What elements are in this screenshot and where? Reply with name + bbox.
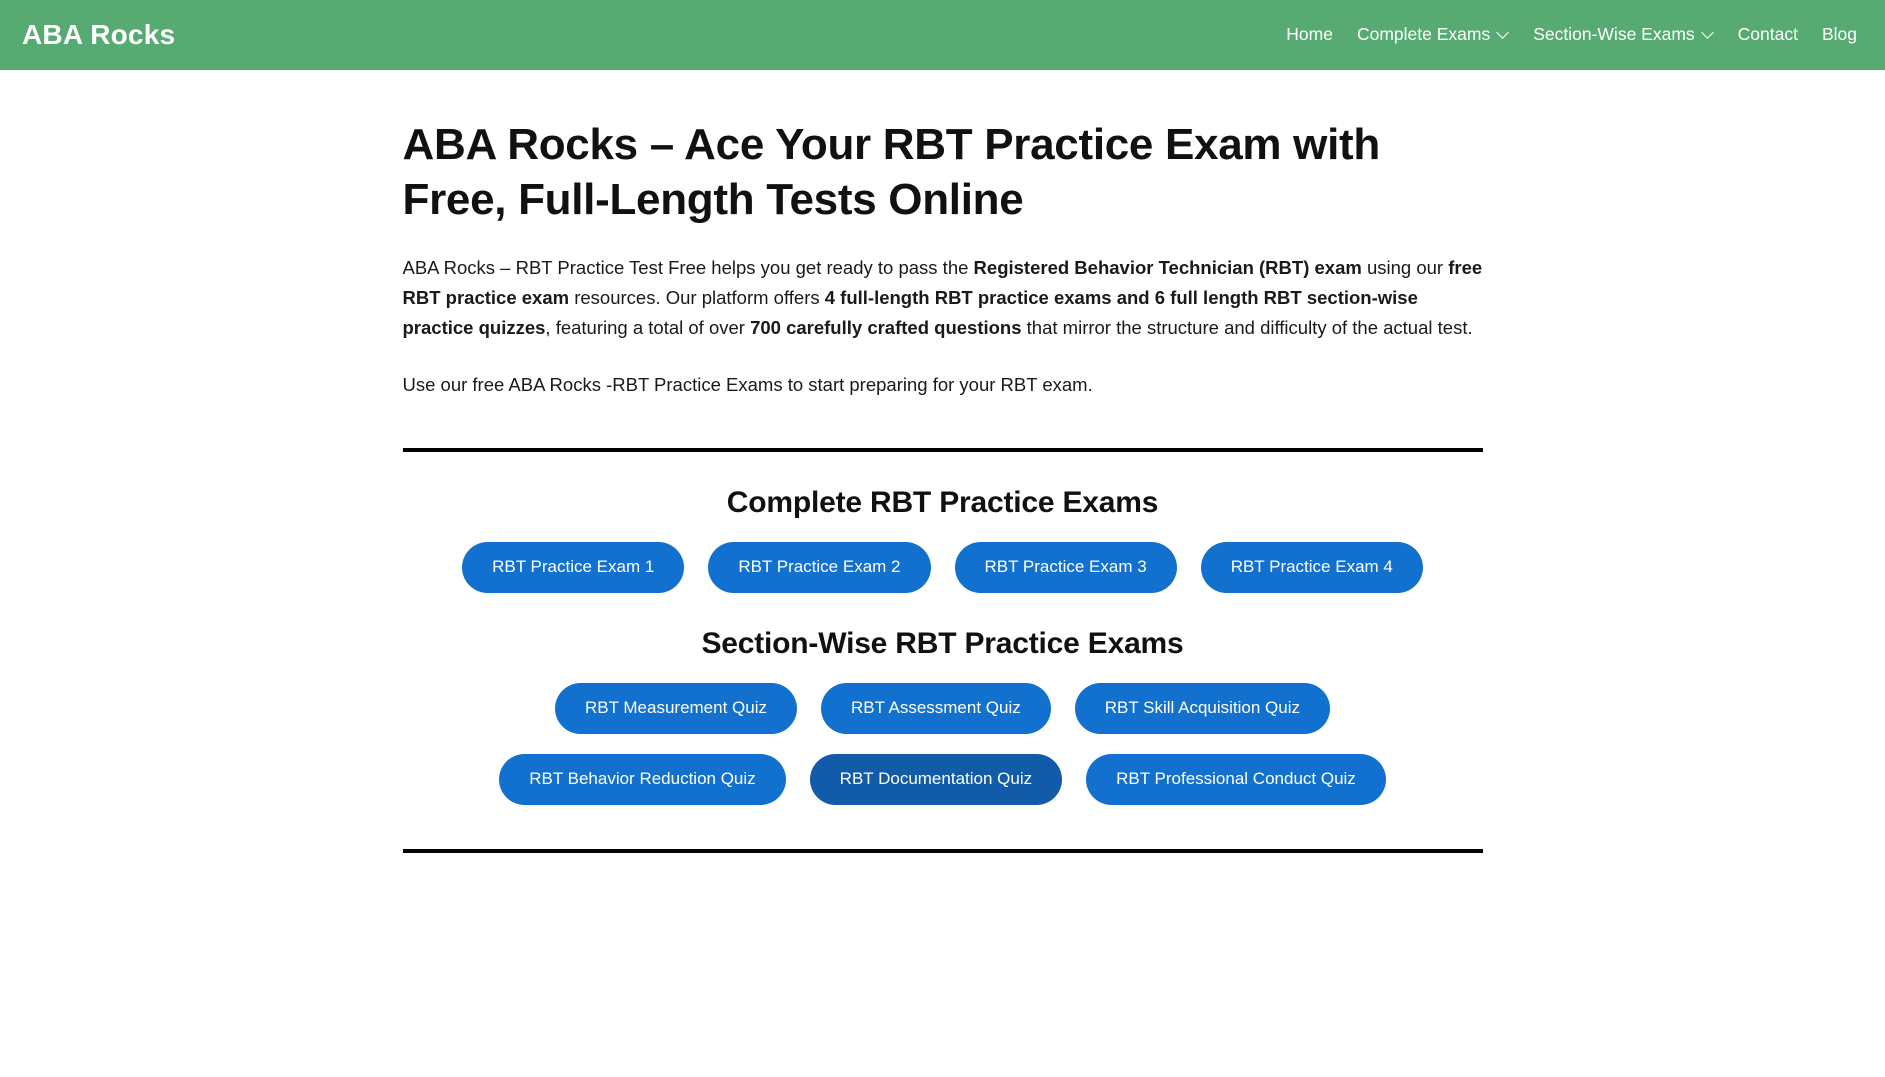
exam-button-3[interactable]: RBT Practice Exam 3 (955, 542, 1177, 593)
exam-button-4[interactable]: RBT Practice Exam 4 (1201, 542, 1423, 593)
chevron-down-icon (1498, 28, 1509, 39)
quiz-button-documentation[interactable]: RBT Documentation Quiz (810, 754, 1062, 805)
page-body: ABA Rocks – Ace Your RBT Practice Exam w… (0, 70, 1885, 1077)
nav-item-blog[interactable]: Blog (1810, 26, 1857, 44)
nav-label: Home (1286, 26, 1333, 44)
chevron-down-icon (1703, 28, 1714, 39)
section-wise-button-row-1: RBT Measurement Quiz RBT Assessment Quiz… (403, 683, 1483, 734)
nav-label: Blog (1822, 26, 1857, 44)
intro-text-part: that mirror the structure and difficulty… (1022, 317, 1473, 338)
complete-exams-button-row: RBT Practice Exam 1 RBT Practice Exam 2 … (403, 542, 1483, 593)
intro-paragraph-2: Use our free ABA Rocks -RBT Practice Exa… (403, 370, 1483, 400)
nav-item-section-wise-exams[interactable]: Section-Wise Exams (1521, 26, 1725, 44)
quiz-button-skill-acquisition[interactable]: RBT Skill Acquisition Quiz (1075, 683, 1330, 734)
exam-button-1[interactable]: RBT Practice Exam 1 (462, 542, 684, 593)
intro-bold-rbt-exam: Registered Behavior Technician (RBT) exa… (974, 257, 1362, 278)
intro-text-part: ABA Rocks – RBT Practice Test Free helps… (403, 257, 974, 278)
exam-button-2[interactable]: RBT Practice Exam 2 (708, 542, 930, 593)
content-container: ABA Rocks – Ace Your RBT Practice Exam w… (403, 70, 1483, 1077)
intro-bold-questions: 700 carefully crafted questions (750, 317, 1021, 338)
section-divider-bottom (403, 849, 1483, 853)
intro-text-part: , featuring a total of over (545, 317, 750, 338)
nav-item-complete-exams[interactable]: Complete Exams (1345, 26, 1521, 44)
site-logo[interactable]: ABA Rocks (22, 21, 175, 49)
nav-label: Contact (1738, 26, 1798, 44)
complete-exams-heading: Complete RBT Practice Exams (403, 486, 1483, 520)
nav-item-contact[interactable]: Contact (1726, 26, 1810, 44)
intro-text-part: using our (1362, 257, 1448, 278)
main-navigation: Home Complete Exams Section-Wise Exams C… (1274, 26, 1857, 44)
section-divider-top (403, 448, 1483, 452)
quiz-button-assessment[interactable]: RBT Assessment Quiz (821, 683, 1051, 734)
page-title: ABA Rocks – Ace Your RBT Practice Exam w… (403, 118, 1433, 227)
section-wise-heading: Section-Wise RBT Practice Exams (403, 627, 1483, 661)
nav-label: Section-Wise Exams (1533, 26, 1694, 44)
section-wise-exams-section: Section-Wise RBT Practice Exams RBT Meas… (403, 627, 1483, 805)
quiz-button-behavior-reduction[interactable]: RBT Behavior Reduction Quiz (499, 754, 785, 805)
section-wise-button-row-2: RBT Behavior Reduction Quiz RBT Document… (403, 754, 1483, 805)
nav-item-home[interactable]: Home (1274, 26, 1345, 44)
intro-text-part: resources. Our platform offers (569, 287, 825, 308)
intro-paragraph-1: ABA Rocks – RBT Practice Test Free helps… (403, 253, 1483, 343)
quiz-button-measurement[interactable]: RBT Measurement Quiz (555, 683, 797, 734)
site-header: ABA Rocks Home Complete Exams Section-Wi… (0, 0, 1885, 70)
quiz-button-professional-conduct[interactable]: RBT Professional Conduct Quiz (1086, 754, 1386, 805)
nav-label: Complete Exams (1357, 26, 1490, 44)
complete-exams-section: Complete RBT Practice Exams RBT Practice… (403, 486, 1483, 593)
